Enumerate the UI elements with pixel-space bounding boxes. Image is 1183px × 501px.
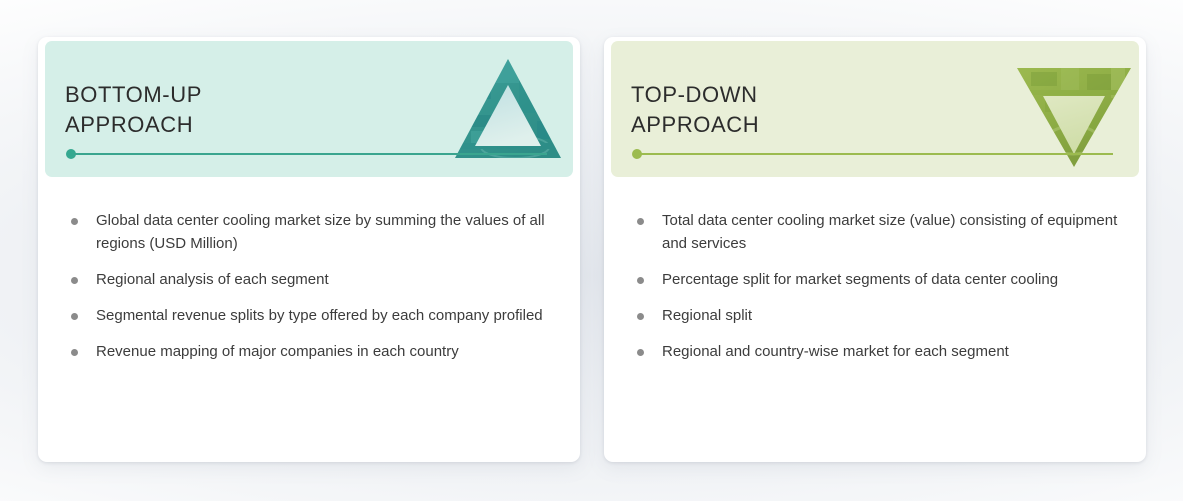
card-bottom-up: BOTTOM-UP APPROACH Global data center co… <box>38 37 580 462</box>
list-item: Total data center cooling market size (v… <box>634 209 1119 255</box>
list-item-text: Revenue mapping of major companies in ea… <box>96 340 553 363</box>
bullet-dot-icon <box>71 313 78 320</box>
list-item: Regional split <box>634 304 1119 327</box>
list-item: Regional and country-wise market for eac… <box>634 340 1119 363</box>
list-item-text: Total data center cooling market size (v… <box>662 209 1119 255</box>
list-item: Global data center cooling market size b… <box>68 209 553 255</box>
bullet-dot-icon <box>637 349 644 356</box>
rule-line <box>640 153 1113 155</box>
bullet-dot-icon <box>637 218 644 225</box>
bullet-list-top-down: Total data center cooling market size (v… <box>634 209 1119 363</box>
triangle-up-icon <box>453 57 563 160</box>
card-title-top-down: TOP-DOWN APPROACH <box>631 80 759 140</box>
card-header-bottom-up: BOTTOM-UP APPROACH <box>45 41 573 177</box>
bullet-dot-icon <box>637 277 644 284</box>
approach-comparison-diagram: BOTTOM-UP APPROACH Global data center co… <box>0 0 1183 501</box>
list-item: Regional analysis of each segment <box>68 268 553 291</box>
list-item-text: Global data center cooling market size b… <box>96 209 553 255</box>
list-item-text: Regional split <box>662 304 1119 327</box>
card-top-down: TOP-DOWN APPROACH Total data center cool… <box>604 37 1146 462</box>
bullet-dot-icon <box>71 349 78 356</box>
bullet-dot-icon <box>637 313 644 320</box>
list-item: Revenue mapping of major companies in ea… <box>68 340 553 363</box>
list-item-text: Regional analysis of each segment <box>96 268 553 291</box>
header-rule-top-down <box>635 153 1113 155</box>
rule-line <box>74 153 547 155</box>
card-title-bottom-up: BOTTOM-UP APPROACH <box>65 80 202 140</box>
list-item-text: Percentage split for market segments of … <box>662 268 1119 291</box>
bullet-dot-icon <box>71 277 78 284</box>
header-rule-bottom-up <box>69 153 547 155</box>
bullet-list-bottom-up: Global data center cooling market size b… <box>68 209 553 363</box>
bullet-dot-icon <box>71 218 78 225</box>
list-item: Percentage split for market segments of … <box>634 268 1119 291</box>
card-header-top-down: TOP-DOWN APPROACH <box>611 41 1139 177</box>
list-item: Segmental revenue splits by type offered… <box>68 304 553 327</box>
list-item-text: Segmental revenue splits by type offered… <box>96 304 553 327</box>
list-item-text: Regional and country-wise market for eac… <box>662 340 1119 363</box>
